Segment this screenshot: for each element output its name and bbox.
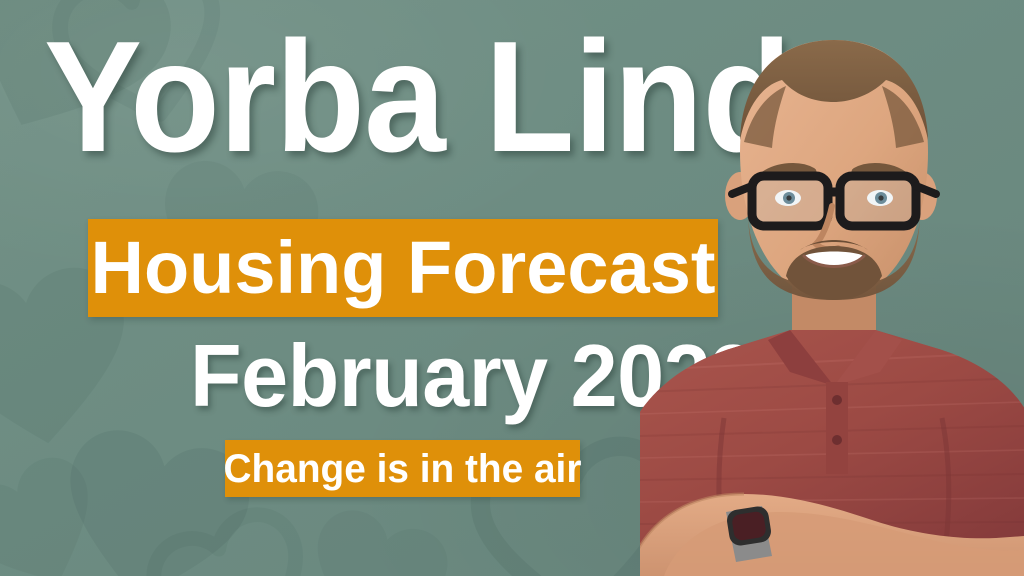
subtitle-date: February 2023	[190, 330, 605, 422]
tagline-label: Change is in the air	[224, 447, 582, 491]
shirt-button-bottom	[832, 435, 842, 445]
presenter-portrait	[640, 0, 1024, 576]
banner-label: Housing Forecast	[91, 229, 716, 307]
headline-banner: Housing Forecast	[88, 219, 718, 317]
tagline-badge: Change is in the air	[225, 440, 580, 497]
shirt-button-top	[832, 395, 842, 405]
page-title: Yorba Linda	[44, 12, 723, 182]
video-thumbnail: Yorba Linda Housing Forecast February 20…	[0, 0, 1024, 576]
presenter-illustration	[640, 0, 1024, 576]
heart-icon	[281, 486, 468, 576]
